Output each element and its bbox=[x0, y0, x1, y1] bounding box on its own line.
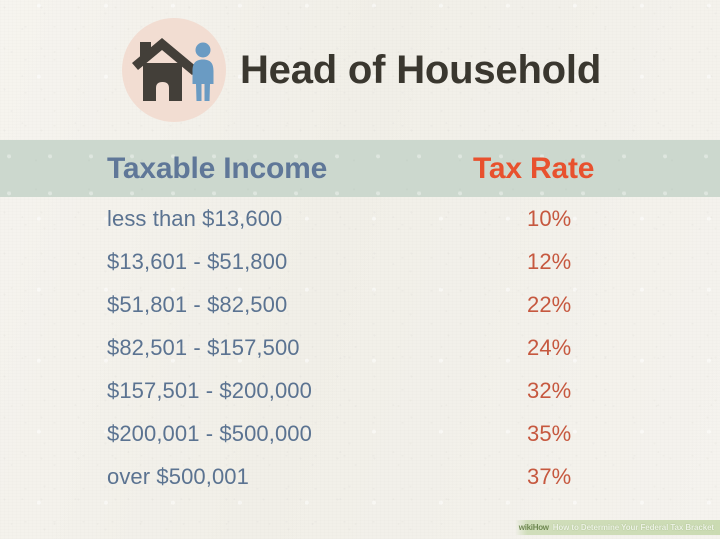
column-header-tax-rate: Tax Rate bbox=[473, 152, 594, 186]
wikihow-logo: wikiHow bbox=[519, 524, 549, 532]
cell-tax-rate: 12% bbox=[527, 249, 571, 275]
tax-bracket-table: less than $13,600 10% $13,601 - $51,800 … bbox=[0, 197, 720, 498]
table-row: less than $13,600 10% bbox=[0, 197, 720, 240]
table-row: $200,001 - $500,000 35% bbox=[0, 412, 720, 455]
cell-taxable-income: $51,801 - $82,500 bbox=[107, 292, 287, 318]
house-with-person-icon bbox=[122, 18, 226, 122]
table-row: $157,501 - $200,000 32% bbox=[0, 369, 720, 412]
cell-tax-rate: 37% bbox=[527, 464, 571, 490]
cell-taxable-income: $82,501 - $157,500 bbox=[107, 335, 300, 361]
page-title: Head of Household bbox=[240, 50, 601, 90]
cell-tax-rate: 10% bbox=[527, 206, 571, 232]
table-header-row: Taxable Income Tax Rate bbox=[0, 140, 720, 197]
cell-tax-rate: 32% bbox=[527, 378, 571, 404]
cell-tax-rate: 24% bbox=[527, 335, 571, 361]
watermark-article-title: How to Determine Your Federal Tax Bracke… bbox=[553, 524, 714, 532]
column-header-taxable-income: Taxable Income bbox=[107, 152, 327, 186]
wikihow-watermark: wikiHow How to Determine Your Federal Ta… bbox=[515, 520, 720, 535]
cell-tax-rate: 22% bbox=[527, 292, 571, 318]
cell-taxable-income: $157,501 - $200,000 bbox=[107, 378, 312, 404]
infographic-canvas: Head of Household Taxable Income Tax Rat… bbox=[0, 0, 720, 539]
page-header: Head of Household bbox=[0, 0, 720, 140]
cell-taxable-income: $200,001 - $500,000 bbox=[107, 421, 312, 447]
cell-taxable-income: over $500,001 bbox=[107, 464, 249, 490]
table-row: $51,801 - $82,500 22% bbox=[0, 283, 720, 326]
table-row: $13,601 - $51,800 12% bbox=[0, 240, 720, 283]
cell-tax-rate: 35% bbox=[527, 421, 571, 447]
table-row: over $500,001 37% bbox=[0, 455, 720, 498]
table-row: $82,501 - $157,500 24% bbox=[0, 326, 720, 369]
cell-taxable-income: less than $13,600 bbox=[107, 206, 282, 232]
cell-taxable-income: $13,601 - $51,800 bbox=[107, 249, 287, 275]
